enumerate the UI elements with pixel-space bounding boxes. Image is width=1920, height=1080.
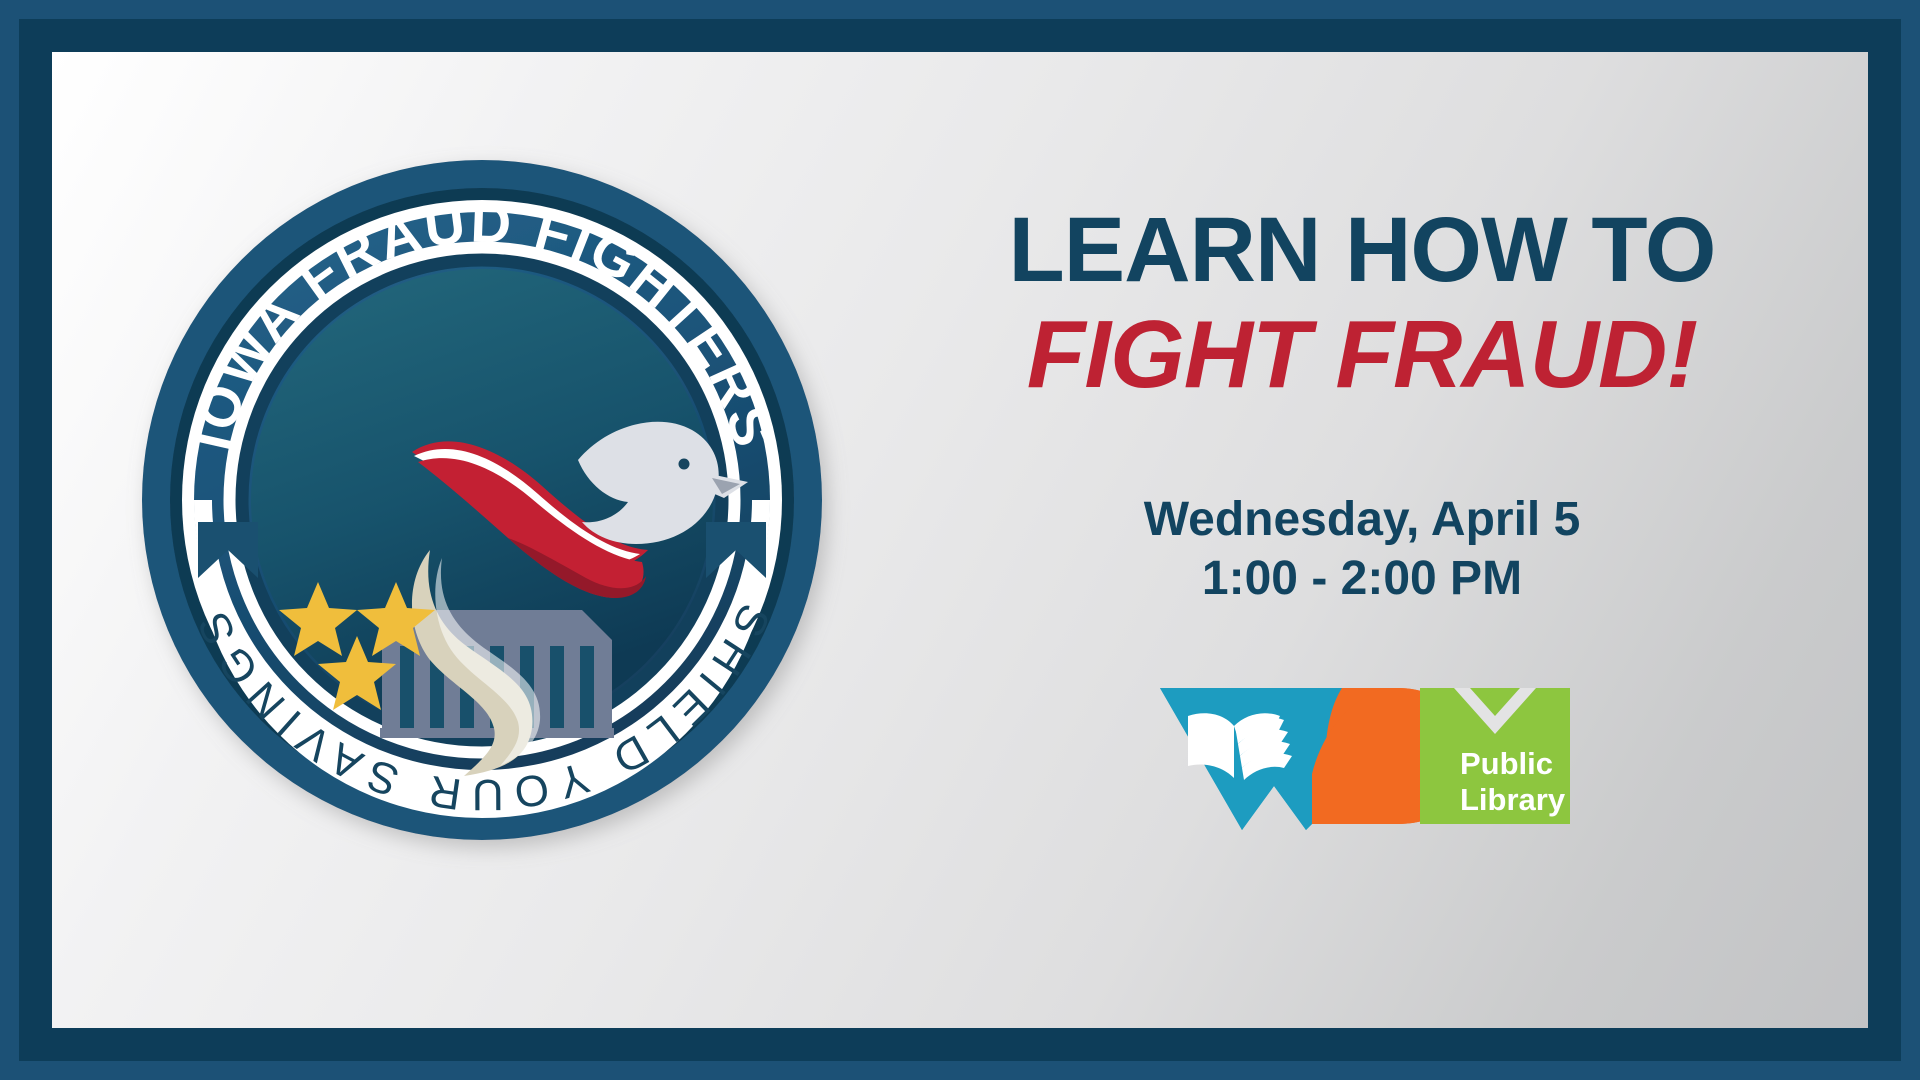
flyer-text-column: LEARN HOW TO FIGHT FRAUD! Wednesday, Apr… [912, 202, 1812, 830]
wdm-public-library-logo: Public Library [912, 682, 1812, 830]
event-date: Wednesday, April 5 [912, 491, 1812, 550]
logo-tagline-line2: Library [1460, 782, 1566, 817]
event-details: Wednesday, April 5 1:00 - 2:00 PM [912, 491, 1812, 608]
event-time: 1:00 - 2:00 PM [912, 550, 1812, 609]
flyer-root: IOWA FRAUD FIGHTERS SHIELD YOUR SAVINGS [0, 0, 1920, 1080]
headline-line-1: LEARN HOW TO [912, 202, 1812, 300]
headline-line-2: FIGHT FRAUD! [912, 304, 1812, 406]
iowa-fraud-fighters-seal: IOWA FRAUD FIGHTERS SHIELD YOUR SAVINGS [112, 130, 852, 870]
flyer-canvas: IOWA FRAUD FIGHTERS SHIELD YOUR SAVINGS [52, 52, 1868, 1028]
logo-tagline-line1: Public [1460, 746, 1553, 781]
